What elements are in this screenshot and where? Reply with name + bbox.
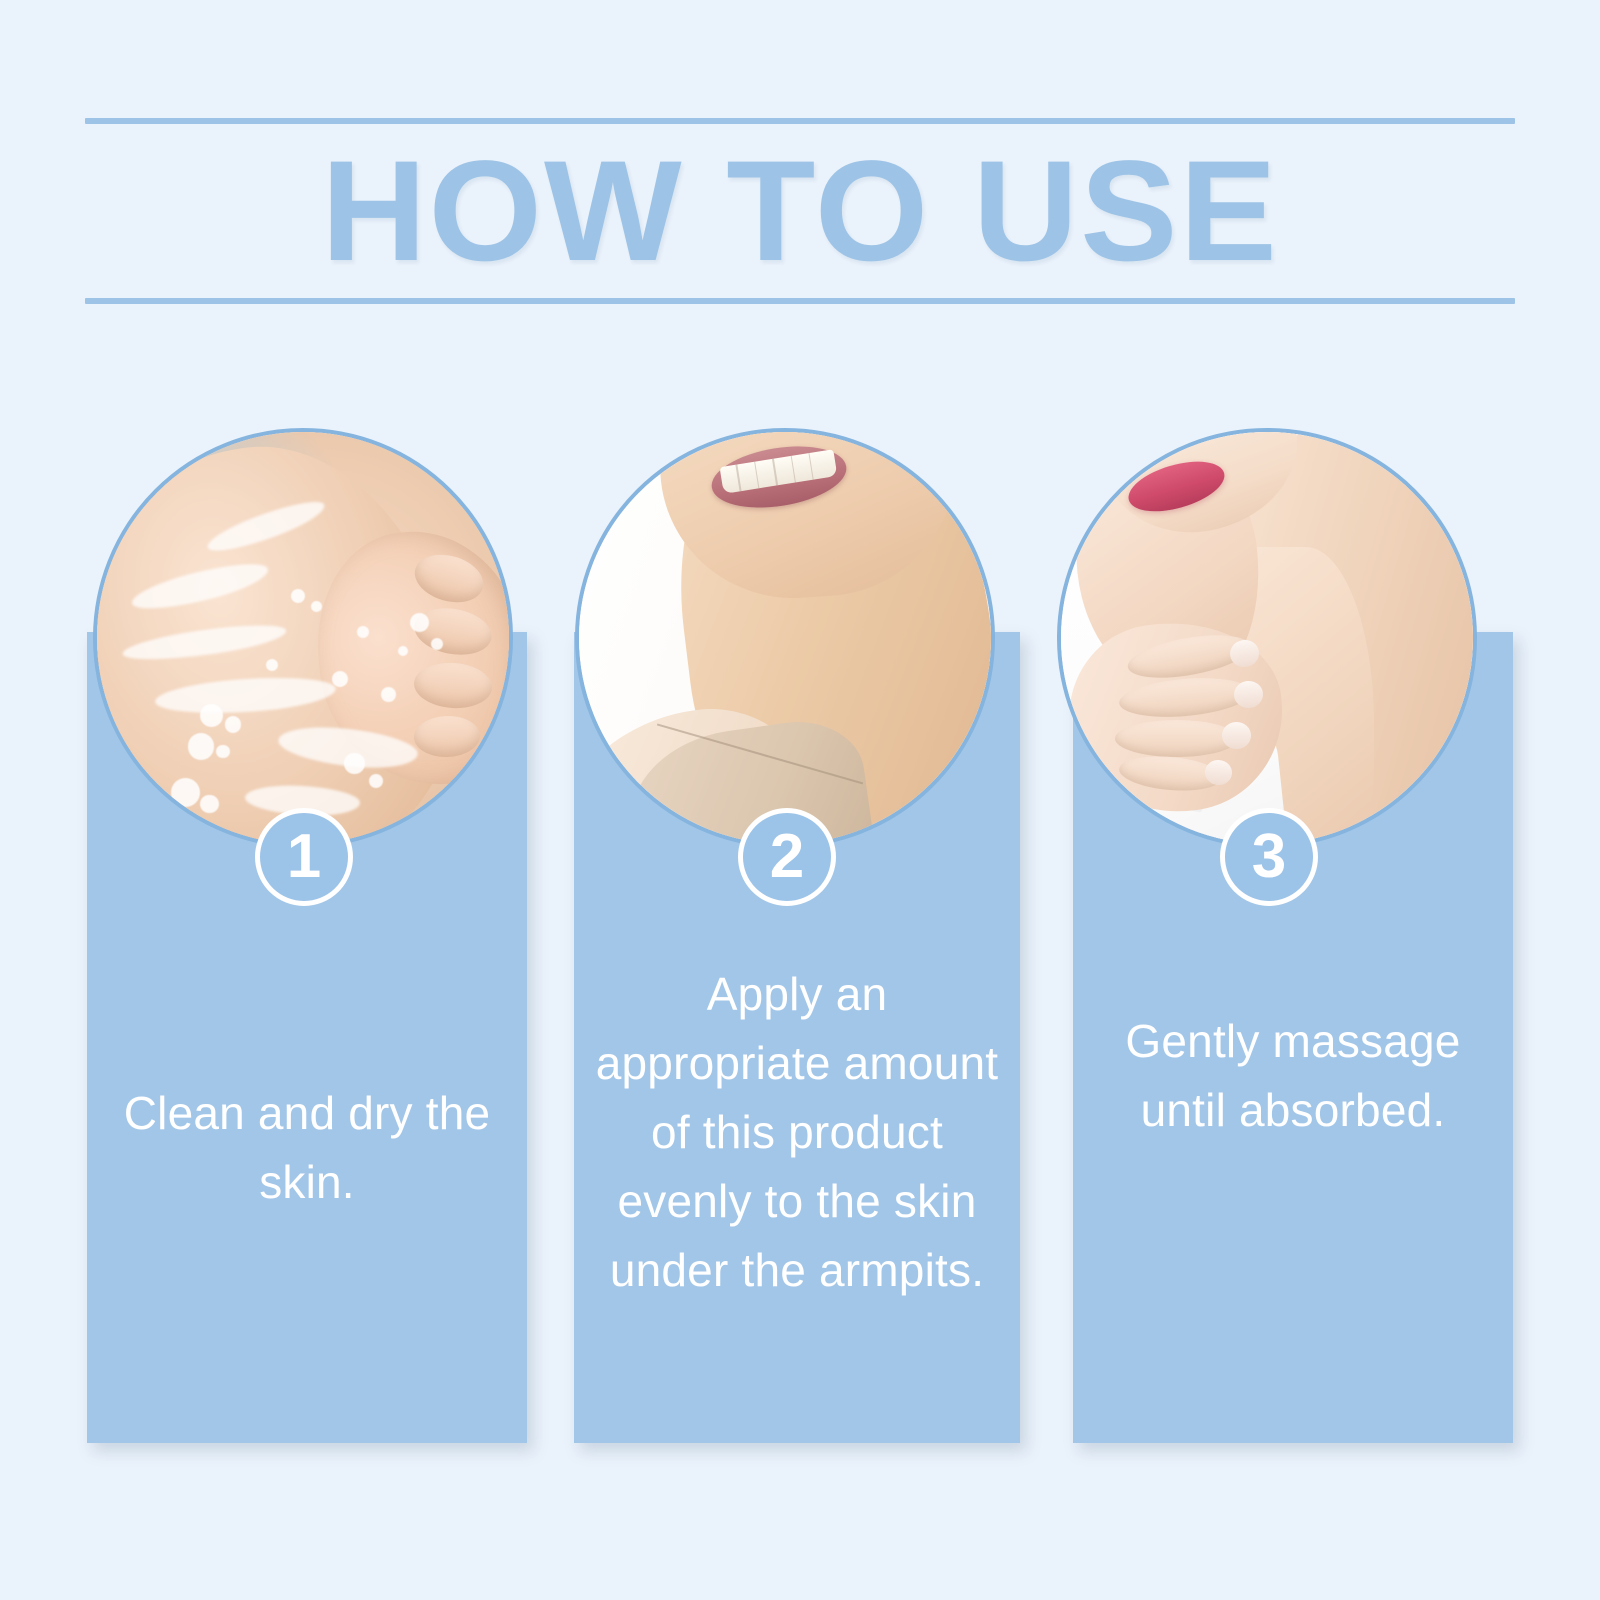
step-2-image	[575, 428, 995, 848]
step-2-text: Apply an appropriate amount of this prod…	[574, 960, 1020, 1305]
underarm-massage-photo	[1061, 432, 1473, 844]
step-2-badge: 2	[738, 808, 836, 906]
step-1-image	[93, 428, 513, 848]
how-to-use-infographic: HOW TO USE Clean and dry the skin.	[0, 0, 1600, 1600]
soapy-shoulder-photo	[97, 432, 509, 844]
step-3-image	[1057, 428, 1477, 848]
steps-row: Clean and dry the skin.	[0, 0, 1600, 1600]
step-3-text: Gently massage until absorbed.	[1073, 1007, 1513, 1145]
step-3-badge: 3	[1220, 808, 1318, 906]
smiling-woman-neck-photo	[579, 432, 991, 844]
step-1-badge: 1	[255, 808, 353, 906]
step-1-text: Clean and dry the skin.	[87, 1079, 527, 1217]
